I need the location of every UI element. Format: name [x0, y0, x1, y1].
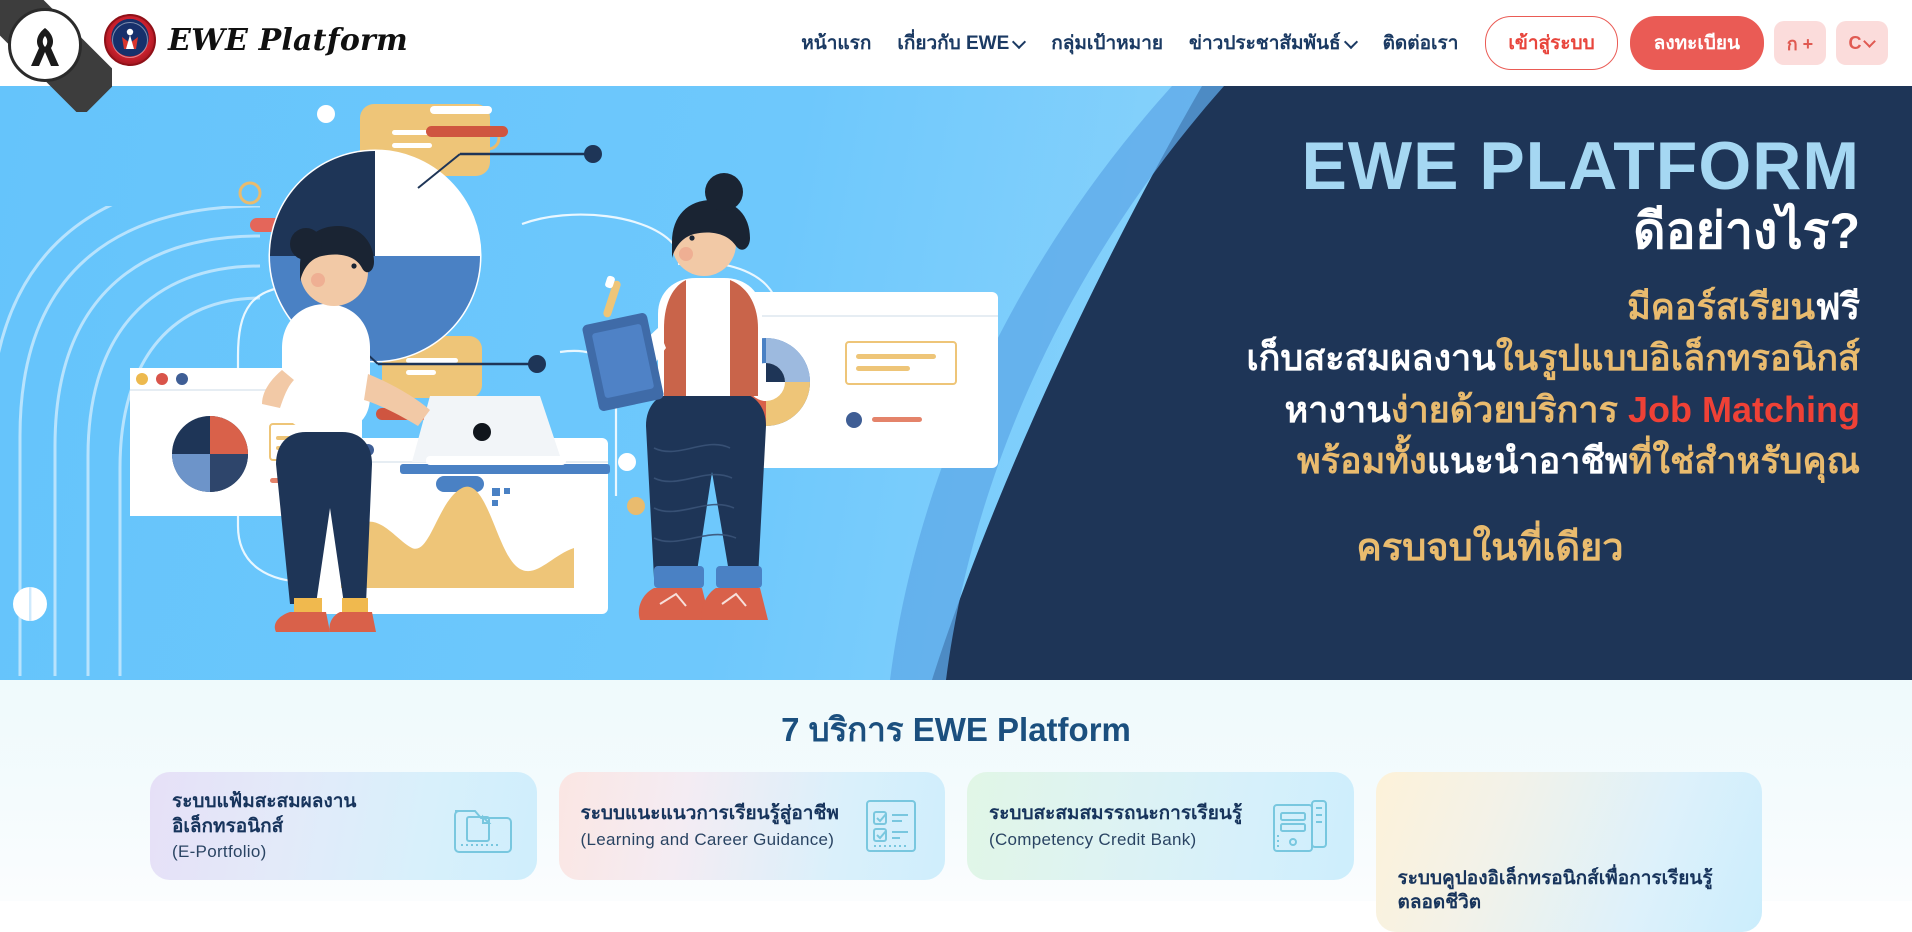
- emblem-people-glyph: [115, 25, 145, 55]
- nav-about[interactable]: เกี่ยวกับ EWE: [884, 20, 1038, 66]
- hero-text-run: ฟรี: [1815, 286, 1860, 327]
- brand-logo-group[interactable]: EWE Platform: [104, 14, 408, 66]
- nav-target-group[interactable]: กลุ่มเป้าหมาย: [1038, 20, 1176, 66]
- nav-link-label: ติดต่อเรา: [1383, 28, 1459, 58]
- service-card-text: ระบบแฟ้มสะสมผลงานอิเล็กทรอนิกส์(E-Portfo…: [172, 790, 451, 862]
- service-card-title-th: ระบบคูปองอิเล็กทรอนิกส์เพื่อการเรียนรู้ต…: [1398, 867, 1741, 916]
- checklist-clipboard-icon: [859, 795, 923, 857]
- nav-news[interactable]: ข่าวประชาสัมพันธ์: [1176, 20, 1370, 66]
- hero-feature-line: มีคอร์สเรียนฟรี: [1160, 281, 1860, 332]
- font-size-button[interactable]: ก +: [1774, 21, 1826, 65]
- service-card-title-en: (E-Portfolio): [172, 842, 451, 862]
- hero-text-run: หางาน: [1285, 389, 1391, 430]
- service-card-e-portfolio[interactable]: ระบบแฟ้มสะสมผลงานอิเล็กทรอนิกส์(E-Portfo…: [150, 772, 537, 880]
- services-title: 7 บริการ EWE Platform: [0, 680, 1912, 756]
- hero-subtitle: ดีอย่างไร?: [1160, 203, 1860, 259]
- hero-illustration: [130, 96, 1010, 680]
- black-mourning-ribbon-icon: [25, 22, 65, 68]
- chevron-down-icon: [1346, 36, 1357, 47]
- hero-text-run: ที่ใช่สำหรับคุณ: [1629, 440, 1860, 481]
- hero-text-run: Job Matching: [1628, 389, 1860, 430]
- service-card-competency-credit-bank[interactable]: ระบบสะสมสมรรถนะการเรียนรู้(Competency Cr…: [967, 772, 1354, 880]
- register-button[interactable]: ลงทะเบียน: [1630, 16, 1764, 70]
- main-nav: หน้าแรกเกี่ยวกับ EWEกลุ่มเป้าหมายข่าวประ…: [788, 0, 1888, 86]
- hero-feature-line: เก็บสะสมผลงานในรูปแบบอิเล็กทรอนิกส์: [1160, 332, 1860, 383]
- hero-feature-line: หางานง่ายด้วยบริการ Job Matching: [1160, 384, 1860, 435]
- contrast-label: C: [1849, 33, 1862, 54]
- service-card-title-th: ระบบแนะแนวการเรียนรู้สู่อาชีพ: [581, 802, 860, 827]
- service-card-title-en: (Competency Credit Bank): [989, 830, 1268, 850]
- hero-banner: EWE PLATFORM ดีอย่างไร? มีคอร์สเรียนฟรีเ…: [0, 86, 1912, 680]
- hero-text-run: ง่ายด้วยบริการ: [1391, 389, 1628, 430]
- service-card-text: ระบบคูปองอิเล็กทรอนิกส์เพื่อการเรียนรู้ต…: [1398, 867, 1741, 916]
- service-card-title-th: ระบบแฟ้มสะสมผลงานอิเล็กทรอนิกส์: [172, 790, 451, 839]
- hero-text-run: ในรูปแบบอิเล็กทรอนิกส์: [1496, 337, 1860, 378]
- nav-home[interactable]: หน้าแรก: [788, 20, 884, 66]
- hero-title: EWE PLATFORM: [1160, 132, 1860, 201]
- chevron-down-icon: [1014, 36, 1025, 47]
- ewe-circular-emblem-icon: [104, 14, 156, 66]
- hero-text-run: พร้อมทั้ง: [1297, 440, 1427, 481]
- services-card-list: ระบบแฟ้มสะสมผลงานอิเล็กทรอนิกส์(E-Portfo…: [0, 772, 1912, 932]
- chevron-down-icon: [1865, 36, 1876, 47]
- service-card-learning-career-guidance[interactable]: ระบบแนะแนวการเรียนรู้สู่อาชีพ(Learning a…: [559, 772, 946, 880]
- service-card-text: ระบบสะสมสมรรถนะการเรียนรู้(Competency Cr…: [989, 802, 1268, 850]
- service-card-title-th: ระบบสะสมสมรรถนะการเรียนรู้: [989, 802, 1268, 827]
- nav-link-label: ข่าวประชาสัมพันธ์: [1189, 28, 1341, 58]
- brand-title: EWE Platform: [168, 23, 408, 58]
- nav-link-label: กลุ่มเป้าหมาย: [1051, 28, 1163, 58]
- nav-link-label: เกี่ยวกับ EWE: [897, 28, 1009, 58]
- hero-text-run: แนะนำอาชีพ: [1427, 440, 1629, 481]
- folder-document-icon: [451, 795, 515, 857]
- hero-feature-lines: มีคอร์สเรียนฟรีเก็บสะสมผลงานในรูปแบบอิเล…: [1160, 281, 1860, 485]
- nav-contact[interactable]: ติดต่อเรา: [1370, 20, 1472, 66]
- contrast-button[interactable]: C: [1836, 21, 1888, 65]
- hero-text-run: มีคอร์สเรียน: [1627, 286, 1815, 327]
- hero-text-run: เก็บสะสมผลงาน: [1246, 337, 1496, 378]
- service-card-e-coupon[interactable]: ระบบคูปองอิเล็กทรอนิกส์เพื่อการเรียนรู้ต…: [1376, 772, 1763, 932]
- hero-feature-line: พร้อมทั้งแนะนำอาชีพที่ใช่สำหรับคุณ: [1160, 435, 1860, 486]
- site-header: EWE Platform หน้าแรกเกี่ยวกับ EWEกลุ่มเป…: [0, 0, 1912, 86]
- service-card-text: ระบบแนะแนวการเรียนรู้สู่อาชีพ(Learning a…: [581, 802, 860, 850]
- service-card-title-en: (Learning and Career Guidance): [581, 830, 860, 850]
- login-button[interactable]: เข้าสู่ระบบ: [1485, 16, 1617, 70]
- nav-link-label: หน้าแรก: [801, 28, 871, 58]
- hero-copy: EWE PLATFORM ดีอย่างไร? มีคอร์สเรียนฟรีเ…: [1160, 132, 1860, 577]
- font-size-label: ก +: [1787, 29, 1813, 58]
- hero-closing: ครบจบในที่เดียว: [1160, 516, 1860, 577]
- credit-bank-vault-icon: [1268, 795, 1332, 857]
